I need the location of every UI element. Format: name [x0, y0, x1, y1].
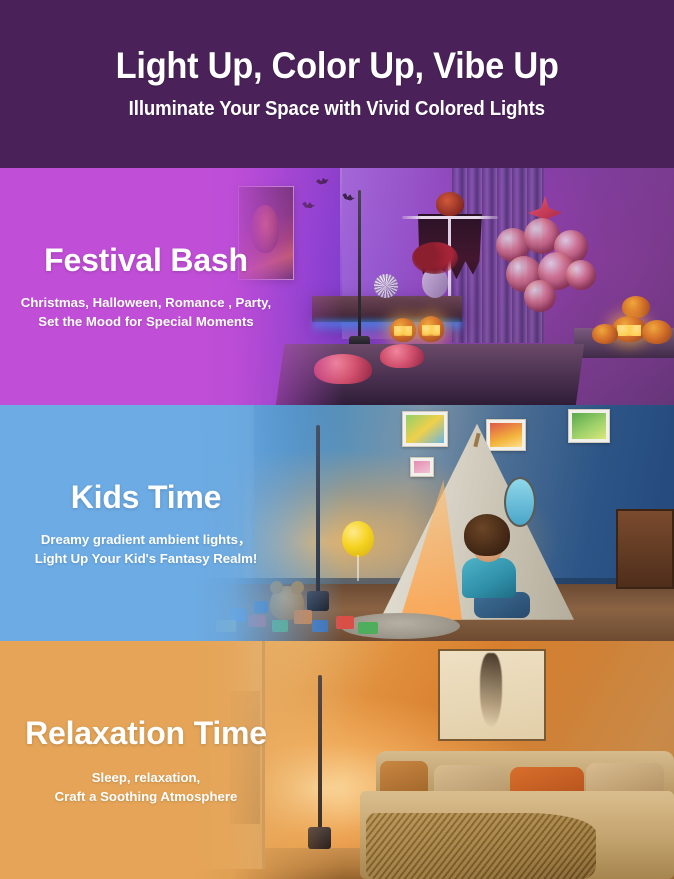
- balloon-cluster: [490, 202, 608, 312]
- jack-o-lantern: [418, 316, 444, 342]
- product-feature-poster: Light Up, Color Up, Vibe Up Illuminate Y…: [0, 0, 674, 879]
- pumpkin: [592, 324, 618, 344]
- wall-art-image: [406, 415, 444, 443]
- kids-scene-photo: [194, 405, 674, 641]
- page-subtitle: Illuminate Your Space with Vivid Colored…: [129, 98, 545, 121]
- wall-art-frame: [410, 457, 434, 477]
- poster-header: Light Up, Color Up, Vibe Up Illuminate Y…: [0, 0, 674, 168]
- page-title: Light Up, Color Up, Vibe Up: [116, 47, 559, 86]
- ghost-arms: [402, 216, 498, 219]
- pumpkin-stack: [592, 296, 668, 342]
- toy-block: [358, 622, 378, 634]
- festival-scene-photo: [194, 168, 674, 405]
- wall-art-frame: [568, 409, 610, 443]
- disco-ball: [374, 274, 398, 298]
- feature-panel-kids: Kids Time Dreamy gradient ambient lights…: [0, 405, 674, 641]
- knit-throw-blanket: [366, 813, 596, 879]
- photo-fade-overlay: [194, 641, 344, 879]
- photo-fade-overlay: [194, 168, 344, 405]
- wall-art-frame: [486, 419, 526, 451]
- feature-panel-festival: Festival Bash Christmas, Halloween, Roma…: [0, 168, 674, 405]
- yellow-balloon: [342, 521, 374, 557]
- bookshelf: [616, 509, 674, 589]
- child-hair: [464, 514, 510, 556]
- red-flowers: [412, 242, 458, 274]
- pumpkin-head: [436, 192, 464, 216]
- child-shirt: [462, 558, 516, 598]
- photo-fade-overlay: [194, 405, 344, 641]
- wall-art-image: [490, 423, 522, 447]
- wall-art-frame: [402, 411, 448, 447]
- jack-o-lantern: [390, 318, 416, 342]
- decorated-cake: [380, 344, 424, 368]
- feature-panel-relax: Relaxation Time Sleep, relaxation, Craft…: [0, 641, 674, 879]
- wall-art-frame: [438, 649, 546, 741]
- balloon: [566, 260, 596, 290]
- pumpkin: [622, 296, 650, 318]
- wall-art-image: [572, 413, 606, 439]
- child: [452, 514, 530, 620]
- pumpkin: [642, 320, 672, 344]
- rgb-floor-lamp-pole: [358, 190, 361, 340]
- relaxation-scene-photo: [194, 641, 674, 879]
- balloon: [524, 280, 556, 312]
- wall-art-image: [414, 461, 430, 473]
